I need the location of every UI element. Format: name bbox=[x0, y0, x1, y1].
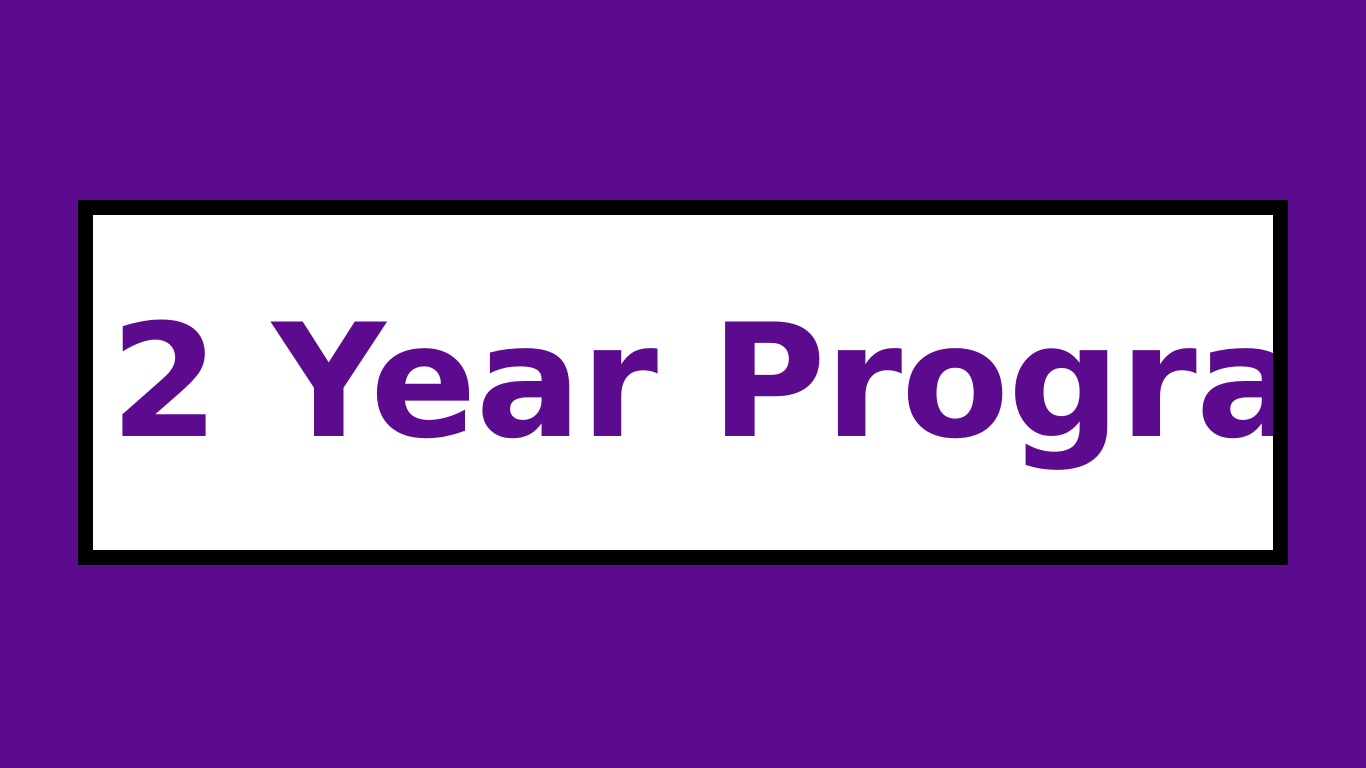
title-box: 2 Year Program bbox=[78, 200, 1288, 565]
slide-title: 2 Year Program bbox=[93, 304, 1288, 461]
slide-canvas: 2 Year Program bbox=[0, 0, 1366, 768]
